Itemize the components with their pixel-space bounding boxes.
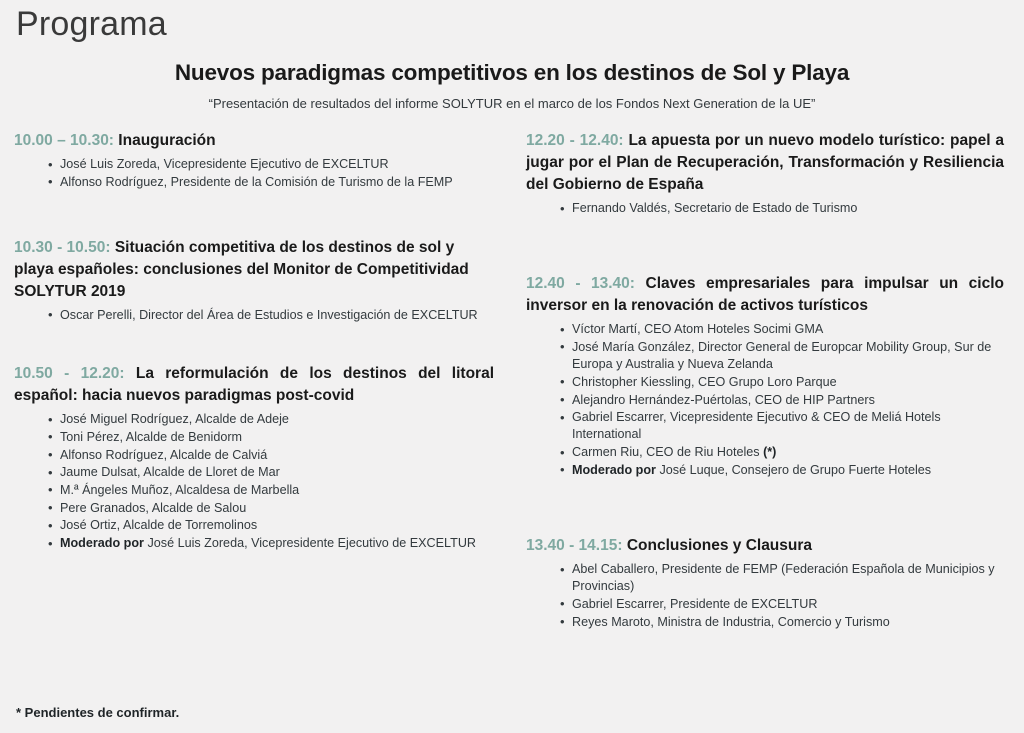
speaker-text: José Miguel Rodríguez, Alcalde de Adeje [60, 412, 289, 426]
speaker-text: José Luis Zoreda, Vicepresidente Ejecuti… [60, 157, 389, 171]
session-block: 10.00 – 10.30: Inauguración José Luis Zo… [14, 130, 494, 191]
speaker-text: Pere Granados, Alcalde de Salou [60, 501, 246, 515]
list-item: José María González, Director General de… [560, 339, 1004, 373]
document-title: Nuevos paradigmas competitivos en los de… [0, 60, 1024, 86]
speaker-list: Abel Caballero, Presidente de FEMP (Fede… [526, 561, 1004, 631]
list-item: Reyes Maroto, Ministra de Industria, Com… [560, 614, 1004, 631]
speaker-text: José Luque, Consejero de Grupo Fuerte Ho… [656, 463, 931, 477]
session-block: 10.50 - 12.20: La reformulación de los d… [14, 363, 494, 552]
session-time: 13.40 - 14.15: [526, 537, 623, 554]
session-title: Inauguración [118, 132, 215, 149]
speaker-text: M.ª Ángeles Muñoz, Alcaldesa de Marbella [60, 483, 299, 497]
list-item: Abel Caballero, Presidente de FEMP (Fede… [560, 561, 1004, 595]
speaker-text: Oscar Perelli, Director del Área de Estu… [60, 308, 478, 322]
list-item: Alfonso Rodríguez, Presidente de la Comi… [48, 174, 494, 191]
list-item: Moderado por José Luque, Consejero de Gr… [560, 462, 1004, 479]
speaker-list: Fernando Valdés, Secretario de Estado de… [526, 200, 1004, 217]
session-time: 10.30 - 10.50: [14, 239, 111, 256]
list-item: Gabriel Escarrer, Presidente de EXCELTUR [560, 596, 1004, 613]
session-heading: 10.00 – 10.30: Inauguración [14, 130, 494, 152]
spacer [526, 483, 1004, 535]
list-item: Fernando Valdés, Secretario de Estado de… [560, 200, 1004, 217]
list-item: José Miguel Rodríguez, Alcalde de Adeje [48, 411, 494, 428]
session-heading: 12.40 - 13.40: Claves empresariales para… [526, 273, 1004, 317]
session-block: 12.20 - 12.40: La apuesta por un nuevo m… [526, 130, 1004, 217]
program-columns: 10.00 – 10.30: Inauguración José Luis Zo… [0, 130, 1024, 635]
session-time: 12.40 - 13.40: [526, 275, 635, 292]
speaker-text: José Luis Zoreda, Vicepresidente Ejecuti… [144, 536, 476, 550]
session-block: 12.40 - 13.40: Claves empresariales para… [526, 273, 1004, 479]
speaker-text: Alejandro Hernández-Puértolas, CEO de HI… [572, 393, 875, 407]
session-heading: 12.20 - 12.40: La apuesta por un nuevo m… [526, 130, 1004, 196]
speaker-list: Oscar Perelli, Director del Área de Estu… [14, 307, 494, 324]
list-item: Gabriel Escarrer, Vicepresidente Ejecuti… [560, 409, 1004, 443]
speaker-text: Víctor Martí, CEO Atom Hoteles Socimi GM… [572, 322, 823, 336]
speaker-text: Alfonso Rodríguez, Alcalde de Calviá [60, 448, 267, 462]
list-item: Jaume Dulsat, Alcalde de Lloret de Mar [48, 464, 494, 481]
footnote: * Pendientes de confirmar. [16, 705, 179, 720]
moderator-label: Moderado por [60, 536, 144, 550]
speaker-text: Christopher Kiessling, CEO Grupo Loro Pa… [572, 375, 837, 389]
session-heading: 10.50 - 12.20: La reformulación de los d… [14, 363, 494, 407]
speaker-text: Jaume Dulsat, Alcalde de Lloret de Mar [60, 465, 280, 479]
speaker-text: Toni Pérez, Alcalde de Benidorm [60, 430, 242, 444]
list-item: Alfonso Rodríguez, Alcalde de Calviá [48, 447, 494, 464]
session-time: 12.20 - 12.40: [526, 132, 624, 149]
session-time: 10.00 – 10.30: [14, 132, 114, 149]
speaker-text: Gabriel Escarrer, Vicepresidente Ejecuti… [572, 410, 941, 441]
speaker-text: Fernando Valdés, Secretario de Estado de… [572, 201, 857, 215]
list-item: José Ortiz, Alcalde de Torremolinos [48, 517, 494, 534]
speaker-text: Carmen Riu, CEO de Riu Hoteles [572, 445, 763, 459]
moderator-label: Moderado por [572, 463, 656, 477]
session-heading: 13.40 - 14.15: Conclusiones y Clausura [526, 535, 1004, 557]
speaker-list: José Luis Zoreda, Vicepresidente Ejecuti… [14, 156, 494, 191]
spacer [14, 328, 494, 363]
list-item: M.ª Ángeles Muñoz, Alcaldesa de Marbella [48, 482, 494, 499]
list-item: Alejandro Hernández-Puértolas, CEO de HI… [560, 392, 1004, 409]
list-item: Toni Pérez, Alcalde de Benidorm [48, 429, 494, 446]
session-title: Conclusiones y Clausura [627, 537, 812, 554]
document-subtitle: “Presentación de resultados del informe … [0, 96, 1024, 111]
session-block: 13.40 - 14.15: Conclusiones y Clausura A… [526, 535, 1004, 631]
speaker-text: José Ortiz, Alcalde de Torremolinos [60, 518, 257, 532]
list-item: Christopher Kiessling, CEO Grupo Loro Pa… [560, 374, 1004, 391]
session-time: 10.50 - 12.20: [14, 365, 125, 382]
spacer [526, 221, 1004, 273]
speaker-text: Alfonso Rodríguez, Presidente de la Comi… [60, 175, 453, 189]
speaker-text: José María González, Director General de… [572, 340, 991, 371]
list-item: José Luis Zoreda, Vicepresidente Ejecuti… [48, 156, 494, 173]
session-heading: 10.30 - 10.50: Situación competitiva de … [14, 237, 494, 303]
program-column-left: 10.00 – 10.30: Inauguración José Luis Zo… [0, 130, 512, 556]
speaker-list: Víctor Martí, CEO Atom Hoteles Socimi GM… [526, 321, 1004, 479]
list-item: Moderado por José Luis Zoreda, Vicepresi… [48, 535, 494, 552]
spacer [14, 195, 494, 237]
list-item: Carmen Riu, CEO de Riu Hoteles (*) [560, 444, 1004, 461]
list-item: Víctor Martí, CEO Atom Hoteles Socimi GM… [560, 321, 1004, 338]
speaker-text: Reyes Maroto, Ministra de Industria, Com… [572, 615, 890, 629]
speaker-text: Abel Caballero, Presidente de FEMP (Fede… [572, 562, 995, 593]
session-block: 10.30 - 10.50: Situación competitiva de … [14, 237, 494, 324]
list-item: Oscar Perelli, Director del Área de Estu… [48, 307, 494, 324]
program-page: Programa Nuevos paradigmas competitivos … [0, 0, 1024, 733]
list-item: Pere Granados, Alcalde de Salou [48, 500, 494, 517]
program-column-right: 12.20 - 12.40: La apuesta por un nuevo m… [512, 130, 1024, 635]
pending-confirm-marker: (*) [763, 445, 776, 459]
speaker-text: Gabriel Escarrer, Presidente de EXCELTUR [572, 597, 817, 611]
speaker-list: José Miguel Rodríguez, Alcalde de Adeje … [14, 411, 494, 552]
page-title: Programa [16, 2, 167, 46]
